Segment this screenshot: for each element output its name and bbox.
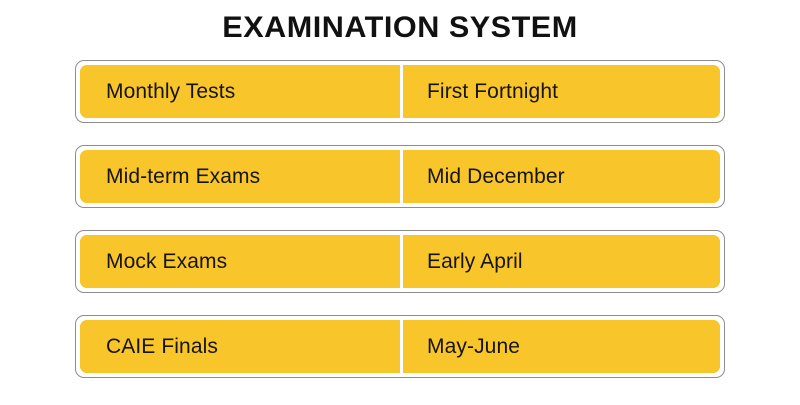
table-row: Mid-term Exams Mid December <box>75 145 725 208</box>
table-cell-schedule-label: Early April <box>427 250 523 274</box>
examination-system-infographic: EXAMINATION SYSTEM Monthly Tests First F… <box>0 0 800 405</box>
table-row: Mock Exams Early April <box>75 230 725 293</box>
table-cell-schedule-label: First Fortnight <box>427 80 558 104</box>
table-row-inner: CAIE Finals May-June <box>80 320 720 373</box>
table-cell-schedule: Early April <box>403 235 720 288</box>
table-row-inner: Mid-term Exams Mid December <box>80 150 720 203</box>
table-row-inner: Monthly Tests First Fortnight <box>80 65 720 118</box>
schedule-table: Monthly Tests First Fortnight Mid-term E… <box>75 60 725 400</box>
table-cell-exam: Mid-term Exams <box>80 150 400 203</box>
table-row: Monthly Tests First Fortnight <box>75 60 725 123</box>
table-cell-exam: Monthly Tests <box>80 65 400 118</box>
table-cell-exam-label: Mock Exams <box>106 250 227 274</box>
table-cell-schedule: Mid December <box>403 150 720 203</box>
table-cell-exam-label: Mid-term Exams <box>106 165 260 189</box>
table-cell-exam-label: CAIE Finals <box>106 335 218 359</box>
table-cell-schedule: First Fortnight <box>403 65 720 118</box>
table-row: CAIE Finals May-June <box>75 315 725 378</box>
table-cell-exam: Mock Exams <box>80 235 400 288</box>
page-title: EXAMINATION SYSTEM <box>0 10 800 46</box>
table-row-inner: Mock Exams Early April <box>80 235 720 288</box>
table-cell-exam: CAIE Finals <box>80 320 400 373</box>
table-cell-schedule-label: May-June <box>427 335 520 359</box>
table-cell-schedule-label: Mid December <box>427 165 565 189</box>
table-cell-exam-label: Monthly Tests <box>106 80 235 104</box>
table-cell-schedule: May-June <box>403 320 720 373</box>
